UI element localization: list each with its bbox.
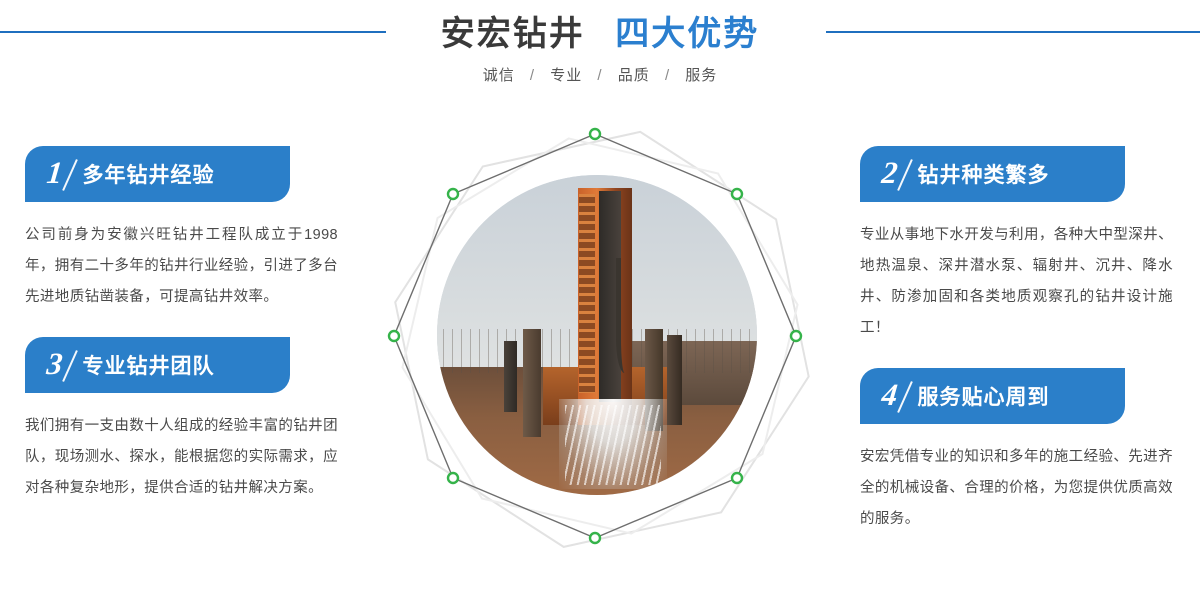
- feature-title-4: 服务贴心周到: [918, 381, 1050, 411]
- feature-title-2: 钻井种类繁多: [918, 159, 1050, 189]
- title-highlight: 四大优势: [615, 15, 759, 53]
- feature-body-3: 我们拥有一支由数十人组成的经验丰富的钻井团队，现场测水、探水，能根据您的实际需求…: [25, 411, 338, 504]
- feature-number-1: 1: [45, 157, 64, 188]
- rig-leg-right-2: [667, 335, 681, 425]
- feature-column-left: 1 多年钻井经验 公司前身为安徽兴旺钻井工程队成立于1998年，拥有二十多年的钻…: [0, 128, 360, 504]
- feature-badge-2[interactable]: 2 钻井种类繁多: [860, 146, 1125, 202]
- page-header: 安宏钻井 四大优势 诚信 / 专业 / 品质 / 服务: [0, 0, 1200, 110]
- feature-title-3: 专业钻井团队: [83, 350, 215, 380]
- title-company: 安宏钻井: [441, 15, 585, 53]
- rig-hose: [616, 258, 645, 373]
- feature-badge-4[interactable]: 4 服务贴心周到: [860, 368, 1125, 424]
- slash-icon: [897, 159, 913, 191]
- feature-card-3[interactable]: 3 专业钻井团队 我们拥有一支由数十人组成的经验丰富的钻井团队，现场测水、探水，…: [0, 337, 360, 504]
- slash-icon: [62, 350, 78, 382]
- feature-badge-1[interactable]: 1 多年钻井经验: [25, 146, 290, 202]
- feature-number-3: 3: [45, 348, 64, 379]
- subtitle-separator-3: /: [665, 67, 670, 84]
- vertex-dot-w: [389, 331, 399, 341]
- feature-body-1: 公司前身为安徽兴旺钻井工程队成立于1998年，拥有二十多年的钻井行业经验，引进了…: [25, 220, 338, 313]
- rig-leg-left-2: [504, 341, 517, 411]
- slash-icon: [62, 159, 78, 191]
- feature-column-right: 2 钻井种类繁多 专业从事地下水开发与利用，各种大中型深井、地热温泉、深井潜水泵…: [840, 128, 1200, 535]
- feature-number-2: 2: [880, 157, 899, 188]
- feature-number-4: 4: [880, 379, 899, 410]
- feature-card-1[interactable]: 1 多年钻井经验 公司前身为安徽兴旺钻井工程队成立于1998年，拥有二十多年的钻…: [0, 146, 360, 313]
- photo-scene: [437, 175, 757, 495]
- subtitle-separator-1: /: [530, 67, 535, 84]
- slash-icon: [897, 381, 913, 413]
- feature-body-4: 安宏凭借专业的知识和多年的施工经验、先进齐全的机械设备、合理的价格，为您提供优质…: [860, 442, 1173, 535]
- vertex-dot-s: [590, 533, 600, 543]
- subtitle-word-4: 服务: [685, 67, 717, 84]
- water-spray: [565, 405, 661, 485]
- vertex-dot-n: [590, 129, 600, 139]
- promo-page: 安宏钻井 四大优势 诚信 / 专业 / 品质 / 服务 1 多年钻井经验 公司前…: [0, 0, 1200, 600]
- page-title: 安宏钻井 四大优势: [0, 12, 1200, 56]
- vertex-dot-e: [791, 331, 801, 341]
- rig-ladder: [579, 194, 595, 392]
- drilling-rig-photo: [437, 175, 757, 495]
- feature-title-1: 多年钻井经验: [83, 159, 215, 189]
- feature-card-2[interactable]: 2 钻井种类繁多 专业从事地下水开发与利用，各种大中型深井、地热温泉、深井潜水泵…: [840, 146, 1200, 344]
- subtitle: 诚信 / 专业 / 品质 / 服务: [0, 64, 1200, 85]
- feature-card-4[interactable]: 4 服务贴心周到 安宏凭借专业的知识和多年的施工经验、先进齐全的机械设备、合理的…: [840, 368, 1200, 535]
- feature-body-2: 专业从事地下水开发与利用，各种大中型深井、地热温泉、深井潜水泵、辐射井、沉井、降…: [860, 220, 1173, 344]
- feature-badge-3[interactable]: 3 专业钻井团队: [25, 337, 290, 393]
- subtitle-separator-2: /: [597, 67, 602, 84]
- subtitle-word-3: 品质: [618, 67, 650, 84]
- subtitle-word-2: 专业: [550, 67, 582, 84]
- center-graphic: [370, 110, 830, 590]
- rig-leg-left: [523, 329, 541, 438]
- subtitle-word-1: 诚信: [483, 67, 515, 84]
